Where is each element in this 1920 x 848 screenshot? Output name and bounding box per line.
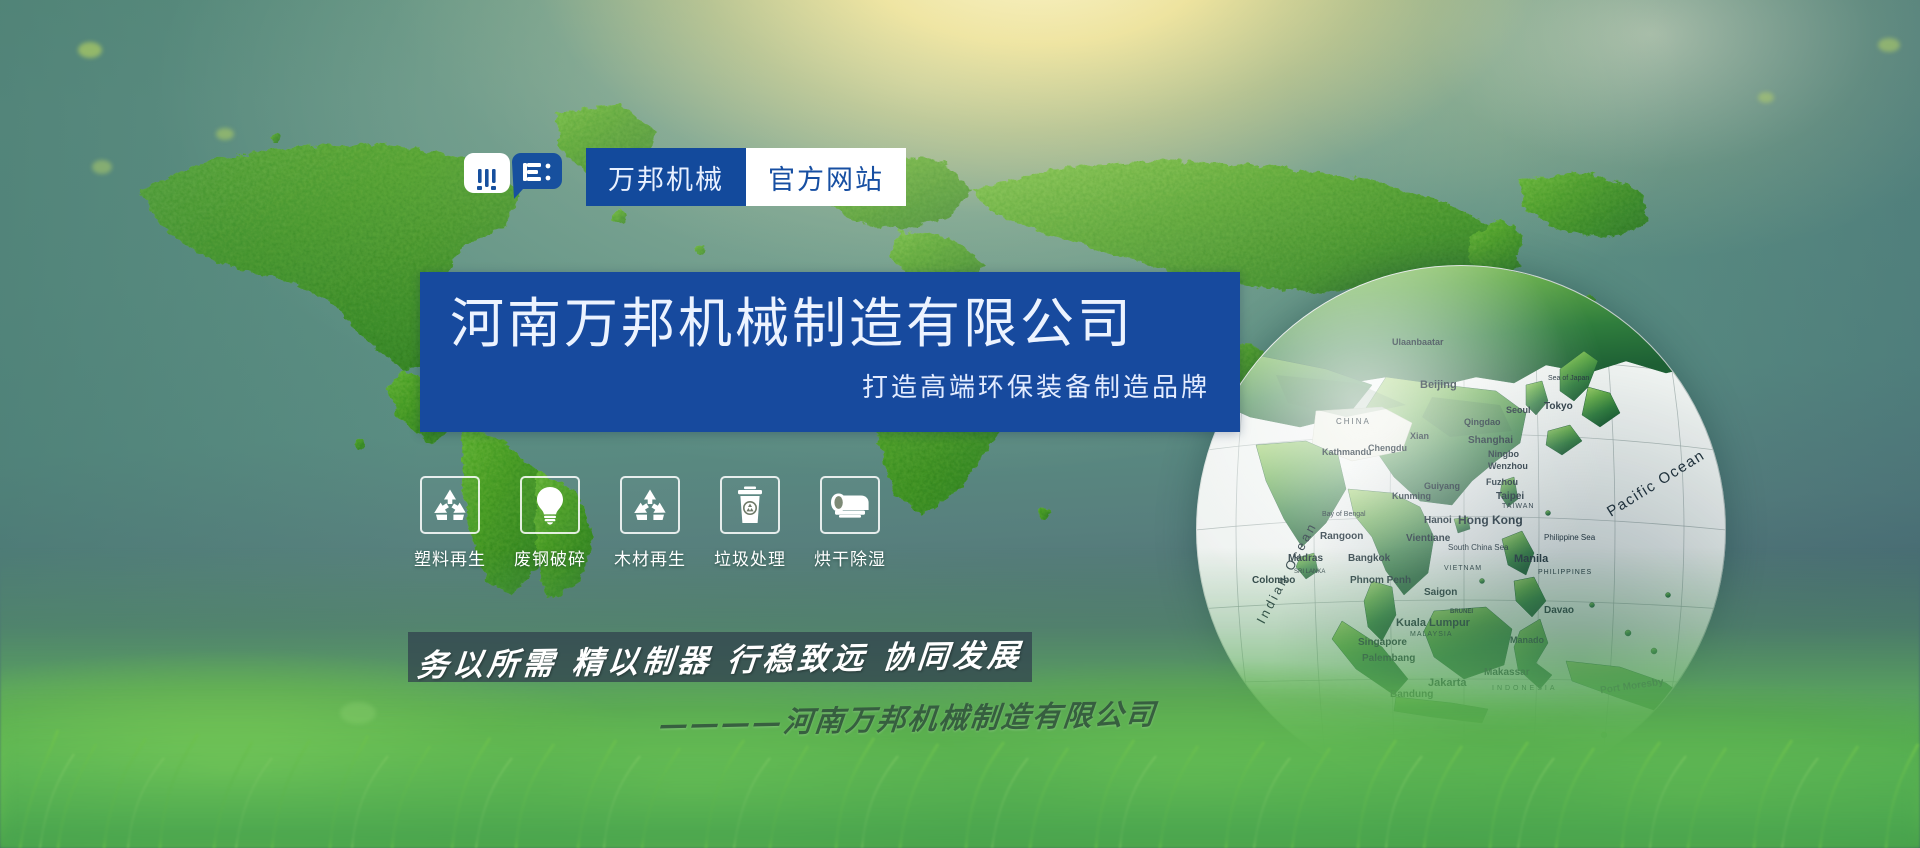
- bokeh-fleck: [216, 128, 234, 140]
- bokeh-fleck: [92, 160, 112, 174]
- recycle-icon: [631, 487, 669, 523]
- tab-wanbang-machinery[interactable]: 万邦机械: [586, 148, 746, 206]
- feature-label: 木材再生: [614, 545, 686, 570]
- feature-icon-box: [620, 476, 680, 534]
- page-subtitle: 打造高端环保装备制造品牌: [450, 367, 1210, 404]
- hero-banner: Pacific OceanIndian OceanUlaanbaatarBeij…: [0, 0, 1920, 848]
- feature-label: 垃圾处理: [714, 545, 786, 570]
- header-tabs: 万邦机械 官方网站: [586, 148, 906, 206]
- wb-logo-icon[interactable]: [460, 153, 564, 201]
- bokeh-fleck: [1758, 92, 1774, 103]
- feature-drying-dehumidification[interactable]: 烘干除湿: [816, 476, 884, 570]
- slogan-text: 务以所需 精以制器 行稳致远 协同发展: [415, 629, 1024, 685]
- site-header: 万邦机械 官方网站: [460, 148, 906, 206]
- trash-bin-icon: [735, 485, 765, 525]
- feature-label: 废钢破碎: [514, 545, 586, 570]
- feature-icon-box: [820, 476, 880, 534]
- feature-icon-box: [520, 476, 580, 534]
- lightbulb-icon: [534, 485, 566, 525]
- feature-icon-box: [720, 476, 780, 534]
- page-title: 河南万邦机械制造有限公司: [450, 294, 1210, 354]
- feature-icon-box: [420, 476, 480, 534]
- bokeh-fleck: [78, 42, 102, 58]
- feature-plastic-recycling[interactable]: 塑料再生: [416, 476, 484, 570]
- feature-icon-row: 塑料再生 废钢破碎: [416, 476, 884, 570]
- recycle-icon: [431, 487, 469, 523]
- bokeh-fleck: [1878, 38, 1900, 52]
- dryer-blower-icon: [829, 490, 871, 520]
- feature-waste-treatment[interactable]: 垃圾处理: [716, 476, 784, 570]
- feature-label: 烘干除湿: [814, 545, 886, 570]
- feature-wood-recycling[interactable]: 木材再生: [616, 476, 684, 570]
- feature-label: 塑料再生: [414, 545, 486, 570]
- company-title-banner: 河南万邦机械制造有限公司 打造高端环保装备制造品牌: [420, 272, 1240, 432]
- feature-scrap-steel-crushing[interactable]: 废钢破碎: [516, 476, 584, 570]
- bokeh-fleck: [340, 702, 376, 724]
- tab-official-website[interactable]: 官方网站: [746, 148, 906, 206]
- slogan-bar: 务以所需 精以制器 行稳致远 协同发展: [408, 632, 1032, 682]
